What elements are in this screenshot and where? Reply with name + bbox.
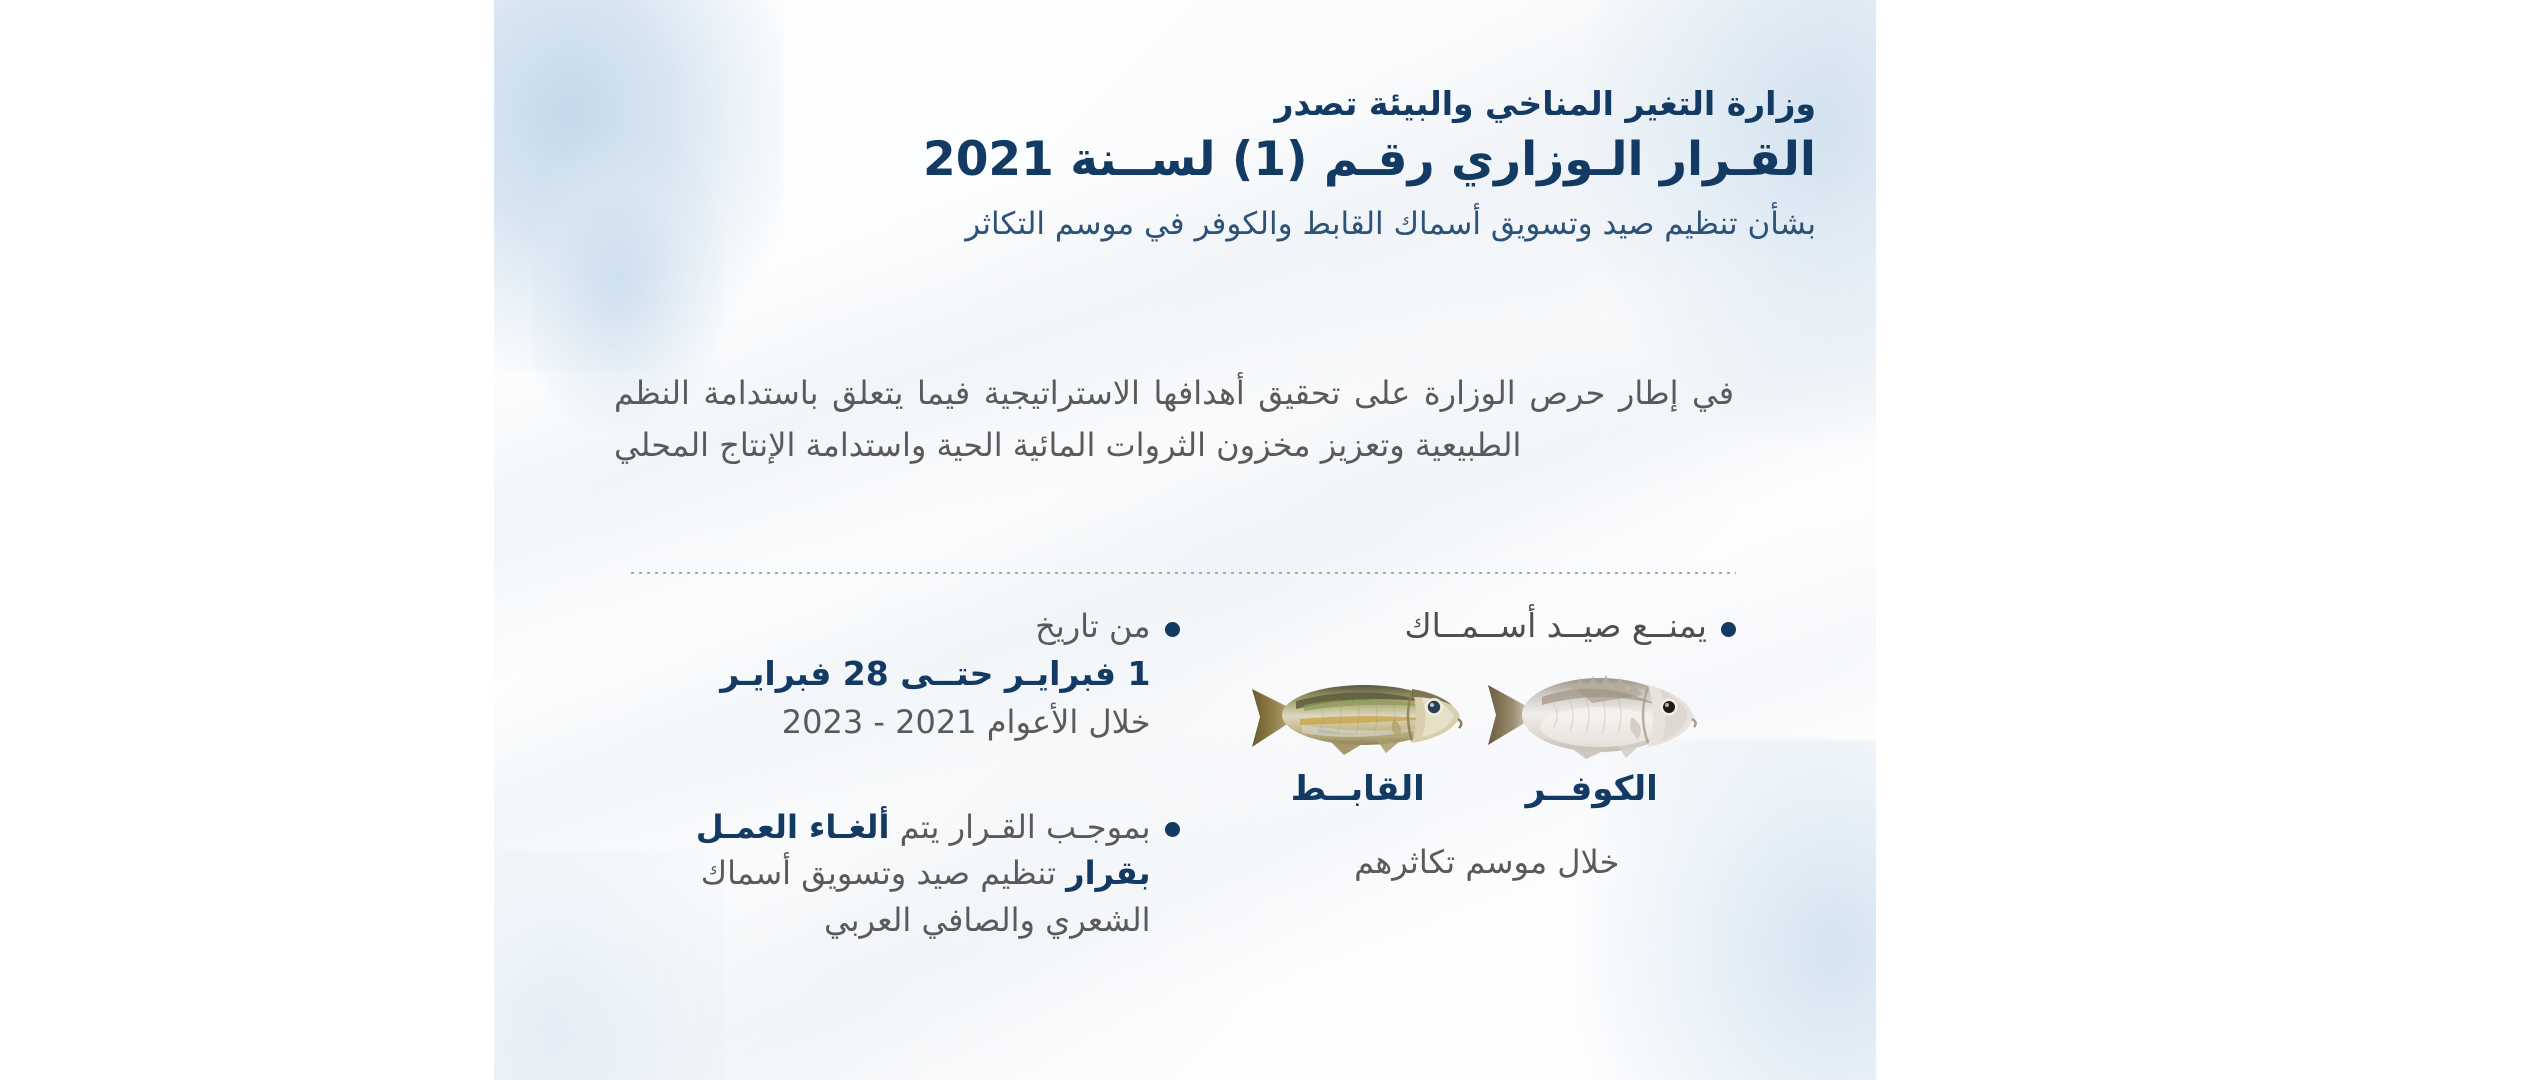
block-repeal: بموجـب القـرار يتم ألغـاء العمـلبقرار تن… — [631, 804, 1180, 943]
infographic-page: وزارة التغير المناخي والبيئة تصدر القـرا… — [0, 0, 2542, 1080]
repeal-emphasis2: بقرار — [1066, 854, 1150, 892]
fish-species-kofar: الكوفــر — [1482, 659, 1702, 809]
ban-title: يمنــع صيــد أســمــاك — [1208, 604, 1708, 649]
date-range: 1 فبرايـر حتــى 28 فبرايـر — [631, 651, 1151, 698]
date-lead: من تاريخ — [631, 604, 1151, 649]
repeal-part3: الشعري والصافي العربي — [824, 901, 1151, 939]
yellowfin-bream-fish-icon — [1248, 659, 1468, 767]
page-margin-right — [1876, 0, 2542, 1080]
bullet-dot-icon — [1165, 822, 1180, 837]
fish-label-kofar: الكوفــر — [1482, 769, 1702, 809]
ministry-name: وزارة التغير المناخي والبيئة تصدر — [554, 84, 1816, 124]
block-date-range: من تاريخ 1 فبرايـر حتــى 28 فبرايـر خلال… — [631, 604, 1180, 746]
bullet-dot-icon — [1721, 622, 1736, 637]
page-subtitle: بشأن تنظيم صيد وتسويق أسماك القابط والكو… — [554, 204, 1816, 244]
bullet-date: من تاريخ 1 فبرايـر حتــى 28 فبرايـر خلال… — [631, 604, 1180, 746]
sea-bream-fish-icon — [1482, 659, 1702, 767]
page-margin-left — [0, 0, 494, 1080]
fish-label-qabit: القابــط — [1248, 769, 1468, 809]
infographic-panel: وزارة التغير المناخي والبيئة تصدر القـرا… — [494, 0, 1876, 1080]
section-divider — [631, 572, 1736, 574]
repeal-text: بموجـب القـرار يتم ألغـاء العمـلبقرار تن… — [631, 804, 1151, 943]
repeal-emphasis1: ألغـاء العمـل — [696, 808, 890, 846]
repeal-part2: تنظيم صيد وتسويق أسماك — [701, 854, 1066, 892]
column-fishing-ban: يمنــع صيــد أســمــاك — [1184, 604, 1737, 1001]
page-title: القـرار الـوزاري رقـم (1) لســنة 2021 — [554, 130, 1816, 190]
repeal-part1: بموجـب القـرار يتم — [889, 808, 1150, 846]
date-years: خلال الأعوام 2021 - 2023 — [631, 700, 1151, 745]
fish-species-row: الكوفــر — [1208, 659, 1743, 809]
content-columns: يمنــع صيــد أســمــاك — [631, 604, 1736, 1001]
column-dates-and-repeal: من تاريخ 1 فبرايـر حتــى 28 فبرايـر خلال… — [631, 604, 1184, 1001]
fish-species-qabit: القابــط — [1248, 659, 1468, 809]
intro-paragraph: في إطار حرص الوزارة على تحقيق أهدافها ال… — [614, 368, 1734, 472]
header: وزارة التغير المناخي والبيئة تصدر القـرا… — [554, 84, 1816, 245]
bullet-repeal: بموجـب القـرار يتم ألغـاء العمـلبقرار تن… — [631, 804, 1180, 943]
bullet-ban: يمنــع صيــد أســمــاك — [1208, 604, 1737, 649]
season-note: خلال موسم تكاثرهم — [1208, 843, 1737, 881]
bullet-dot-icon — [1165, 622, 1180, 637]
